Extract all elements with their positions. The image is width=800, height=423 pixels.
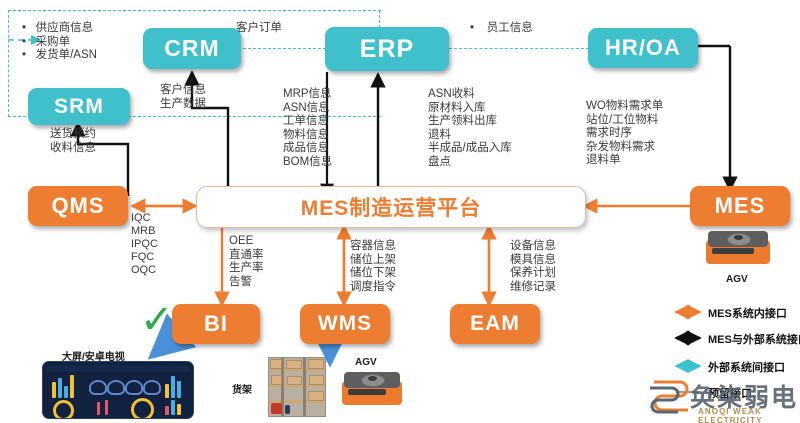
annotation-erp-down: MRP信息 ASN信息 工单信息 物料信息 成品信息 BOM信息 (283, 88, 332, 170)
annotation-crm-up: 客户信息 生产数据 (160, 84, 206, 111)
node-srm-label: SRM (54, 95, 104, 119)
node-eam[interactable]: EAM (450, 304, 540, 344)
node-hroa-label: HR/OA (605, 35, 681, 61)
node-wms[interactable]: WMS (300, 304, 390, 344)
node-bi-label: BI (204, 311, 228, 337)
annotation-erp-up: ASN收料 原材料入库 生产领料出库 退料 半成品/成品入库 盘点 (428, 88, 512, 170)
legend-between: 外部系统间接口 (708, 359, 785, 375)
legend-internal: MES系统内接口 (708, 305, 787, 321)
diagram-canvas: SRM CRM ERP HR/OA QMS MES MES制造运营平台 BI W… (0, 0, 800, 423)
agv-wms-caption: AGV (355, 357, 377, 368)
node-crm[interactable]: CRM (143, 28, 241, 69)
dashed-crm-to-erp (228, 48, 326, 49)
annotation-eam-labels: 设备信息 模具信息 保养计划 维修记录 (510, 240, 556, 294)
node-bi[interactable]: BI (172, 304, 260, 344)
dashed-erp-to-hroa (449, 48, 589, 49)
shelf-image (268, 357, 326, 417)
node-eam-label: EAM (470, 312, 520, 336)
node-srm[interactable]: SRM (28, 88, 130, 125)
annotation-employee-info: • 员工信息 (470, 22, 533, 36)
agv-wms-image (342, 372, 402, 408)
annotation-qms-labels: IQC MRB IPQC FQC OQC (131, 212, 158, 277)
node-erp-label: ERP (360, 35, 414, 64)
annotation-customer-order: 客户订单 (236, 22, 282, 36)
annotation-bi-labels: OEE 直通率 生产率 告警 (229, 235, 264, 289)
annotation-hroa-down: WO物料需求单 站位/工位物料 需求时序 杂发物料需求 退料单 (586, 100, 663, 168)
agv-right-caption: AGV (726, 274, 748, 285)
watermark-en: ANOQI WEAK ELECTRICITY (698, 407, 800, 423)
node-crm-label: CRM (164, 35, 219, 62)
node-qms[interactable]: QMS (28, 186, 128, 226)
node-mes-right[interactable]: MES (690, 186, 790, 226)
node-mes-platform[interactable]: MES制造运营平台 (196, 186, 586, 228)
node-erp[interactable]: ERP (325, 27, 449, 71)
annotation-wms-labels: 容器信息 储位上架 储位下架 调度指令 (350, 240, 396, 294)
tv-dashboard (42, 361, 194, 419)
legend-external: MES与外部系统接口 (708, 331, 800, 347)
check-mark-icon: ✓ (140, 300, 174, 340)
annotation-srm-up: 送货预约 收料信息 (50, 128, 96, 155)
node-mes-platform-label: MES制造运营平台 (301, 192, 482, 222)
watermark-logo-icon (644, 372, 696, 421)
annotation-supplier-list: • 供应商信息 • 采购单 • 发货单/ASN (22, 22, 97, 63)
node-wms-label: WMS (318, 312, 372, 336)
node-mes-right-label: MES (715, 193, 766, 219)
node-hroa[interactable]: HR/OA (588, 28, 698, 68)
agv-right-image (706, 231, 770, 269)
node-qms-label: QMS (51, 193, 104, 219)
shelf-caption: 货架 (232, 381, 252, 396)
